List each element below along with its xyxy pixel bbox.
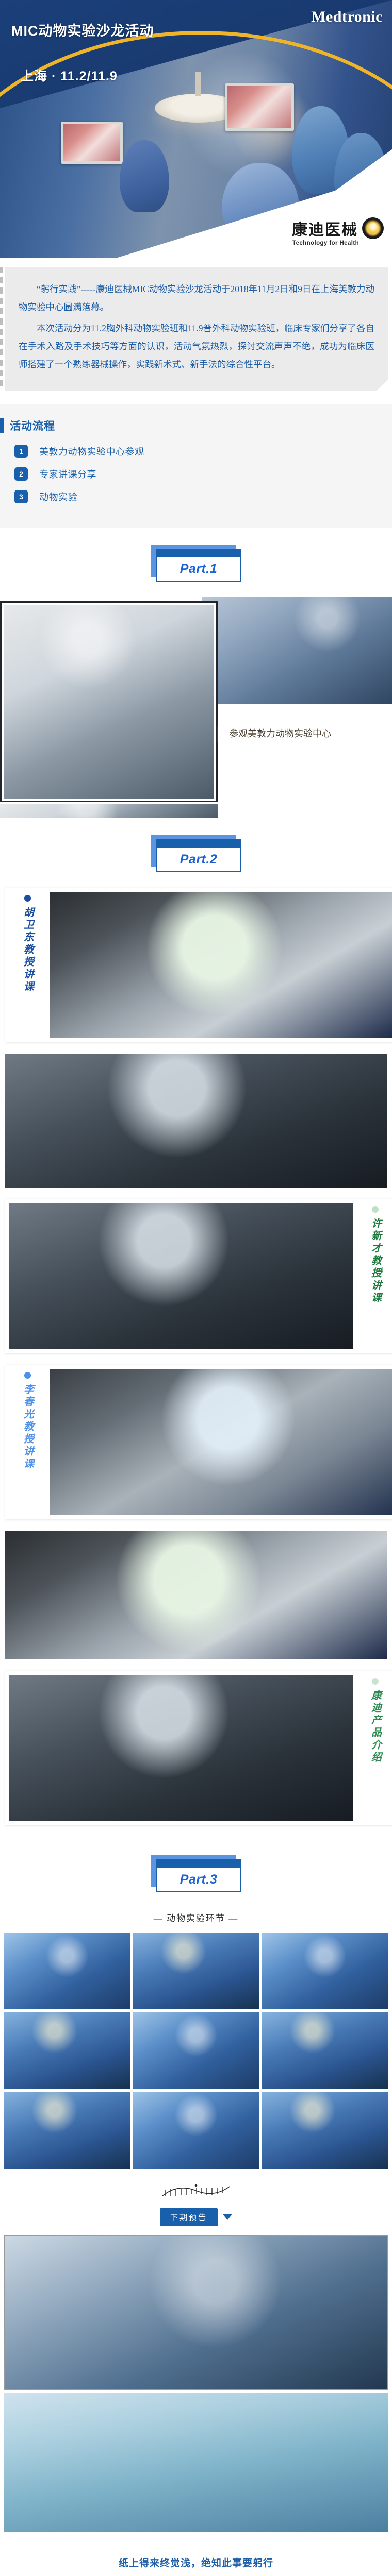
product-caption: 康迪产品介绍: [368, 1690, 382, 1764]
logo-chinese-name: 康迪医械: [292, 217, 358, 240]
intro-section: “躬行实践”-----康迪医械MIC动物实验沙龙活动于2018年11月2日和9日…: [0, 258, 392, 393]
part3-photo-grid: [0, 1933, 392, 2169]
flow-item-label: 美敦力动物实验中心参观: [39, 445, 144, 458]
lecture-caption-2: 许新才教授讲课: [368, 1218, 382, 1304]
closing-line-1: 纸上得来终觉浅，绝知此事要躬行: [0, 2553, 392, 2574]
part2-badge-wrap: Part.2: [0, 819, 392, 888]
flow-number-badge: 1: [14, 445, 28, 458]
lecture-caption-col-1: 胡卫东教授讲课: [5, 888, 50, 1042]
surgeon-figure-1: [120, 140, 169, 212]
photo-audience-1: [5, 1054, 387, 1188]
activity-flow-list: 1 美敦力动物实验中心参观 2 专家讲课分享 3 动物实验: [0, 445, 392, 503]
list-item: 3 动物实验: [14, 490, 392, 503]
flourish-divider-icon: [157, 2182, 235, 2200]
part1-collage: 参观美敦力动物实验中心: [0, 597, 392, 819]
badge-front-layer: Part.1: [156, 556, 241, 582]
medtronic-brand-wordmark: Medtronic: [311, 8, 383, 26]
photo-equipment-demo: [4, 605, 214, 799]
list-item: 1 美敦力动物实验中心参观: [14, 445, 392, 458]
part-badge: Part.2: [151, 835, 241, 874]
endoscopy-monitor-left: [61, 122, 123, 164]
lecture-caption-1: 胡卫东教授讲课: [21, 907, 35, 993]
endoscopy-monitor-right: [225, 83, 294, 131]
lecture-block-1: 胡卫东教授讲课: [5, 888, 392, 1042]
badge-front-layer: Part.2: [156, 846, 241, 872]
photo-lecture-li: [50, 1369, 392, 1515]
photo-animal-lab-5: [133, 2012, 259, 2089]
photo-animal-lab-4: [4, 2012, 130, 2089]
part-badge: Part.1: [151, 545, 241, 584]
lecture-block-2: 许新才教授讲课: [5, 1199, 392, 1353]
audience-block-1: [5, 1054, 387, 1188]
part1-caption: 参观美敦力动物实验中心: [217, 726, 383, 742]
ornament-wrap: [0, 2169, 392, 2205]
kangdi-diamond-icon: [362, 217, 384, 239]
photo-lecture-hu: [50, 892, 392, 1038]
badge-front-layer: Part.3: [156, 1867, 241, 1892]
flow-number-badge: 3: [14, 490, 28, 503]
photo-lab-overview: [202, 597, 392, 704]
photo-lecture-wide: [5, 1531, 387, 1659]
photo-product-intro: [9, 1675, 353, 1821]
photo-animal-lab-6: [262, 2012, 388, 2089]
logo-tagline: Technology for Health: [292, 240, 384, 246]
preview-badge-label: 下期预告: [160, 2208, 218, 2226]
activity-flow-header: 活动流程: [0, 418, 392, 433]
photo-animal-lab-9: [262, 2092, 388, 2169]
flow-item-label: 专家讲课分享: [39, 467, 96, 481]
activity-flow-title: 活动流程: [10, 418, 55, 433]
photo-preview-briefing: [4, 2235, 388, 2390]
part-badge: Part.3: [151, 1855, 241, 1894]
part2-badge-label: Part.2: [180, 852, 217, 867]
preview-badge-wrap: 下期预告: [0, 2205, 392, 2235]
photo-preview-corridor: [4, 2393, 388, 2532]
lecture-caption-col-2: 许新才教授讲课: [353, 1199, 392, 1353]
bullet-dot-icon: [24, 1372, 31, 1379]
lecture-caption-3: 李春光教授讲课: [21, 1384, 35, 1470]
photo-lecture-xu: [9, 1203, 353, 1349]
intro-paragraph-1: “躬行实践”-----康迪医械MIC动物实验沙龙活动于2018年11月2日和9日…: [19, 280, 374, 316]
kangdi-logo: 康迪医械 Technology for Health: [292, 217, 384, 246]
page-title: MIC动物实验沙龙活动: [11, 20, 154, 40]
part1-badge-wrap: Part.1: [0, 528, 392, 597]
flow-item-label: 动物实验: [39, 490, 77, 503]
hero-banner: MIC动物实验沙龙活动 上海 · 11.2/11.9 Medtronic 康迪医…: [0, 0, 392, 258]
part1-badge-label: Part.1: [180, 562, 217, 577]
flow-number-badge: 2: [14, 467, 28, 481]
part3-subtitle: — 动物实验环节 —: [0, 1908, 392, 1933]
intro-paragraph-2: 本次活动分为11.2胸外科动物实验班和11.9普外科动物实验班，临床专家们分享了…: [19, 319, 374, 374]
bullet-dot-icon: [372, 1206, 379, 1213]
logo-row: 康迪医械: [292, 217, 384, 240]
section-accent-bar: [0, 418, 4, 433]
photo-animal-lab-2: [133, 1933, 259, 2009]
chevron-down-icon: [223, 2214, 232, 2220]
lecture-wide-block: [5, 1531, 387, 1659]
photo-animal-lab-8: [133, 2092, 259, 2169]
bullet-dot-icon: [24, 895, 31, 902]
activity-flow-section: 活动流程 1 美敦力动物实验中心参观 2 专家讲课分享 3 动物实验: [0, 404, 392, 528]
photo-frame-demo: [0, 601, 218, 802]
closing-section: 纸上得来终觉浅，绝知此事要躬行 手术更需 “躬行实践”， 下一期MIC动物实验期…: [0, 2532, 392, 2576]
lecture-block-3: 李春光教授讲课: [5, 1365, 392, 1519]
part3-badge-label: Part.3: [180, 1872, 217, 1887]
part3-badge-wrap: Part.3: [0, 1839, 392, 1908]
list-item: 2 专家讲课分享: [14, 467, 392, 481]
photo-animal-lab-3: [262, 1933, 388, 2009]
product-intro-block: 康迪产品介绍: [5, 1671, 392, 1825]
intro-card: “躬行实践”-----康迪医械MIC动物实验沙龙活动于2018年11月2日和9日…: [5, 267, 388, 391]
photo-animal-lab-1: [4, 1933, 130, 2009]
lecture-caption-col-3: 李春光教授讲课: [5, 1365, 50, 1519]
bullet-dot-icon: [372, 1678, 379, 1685]
page-subtitle: 上海 · 11.2/11.9: [21, 66, 118, 84]
photo-equipment-strip: [0, 804, 218, 818]
product-caption-col: 康迪产品介绍: [353, 1671, 392, 1825]
photo-animal-lab-7: [4, 2092, 130, 2169]
